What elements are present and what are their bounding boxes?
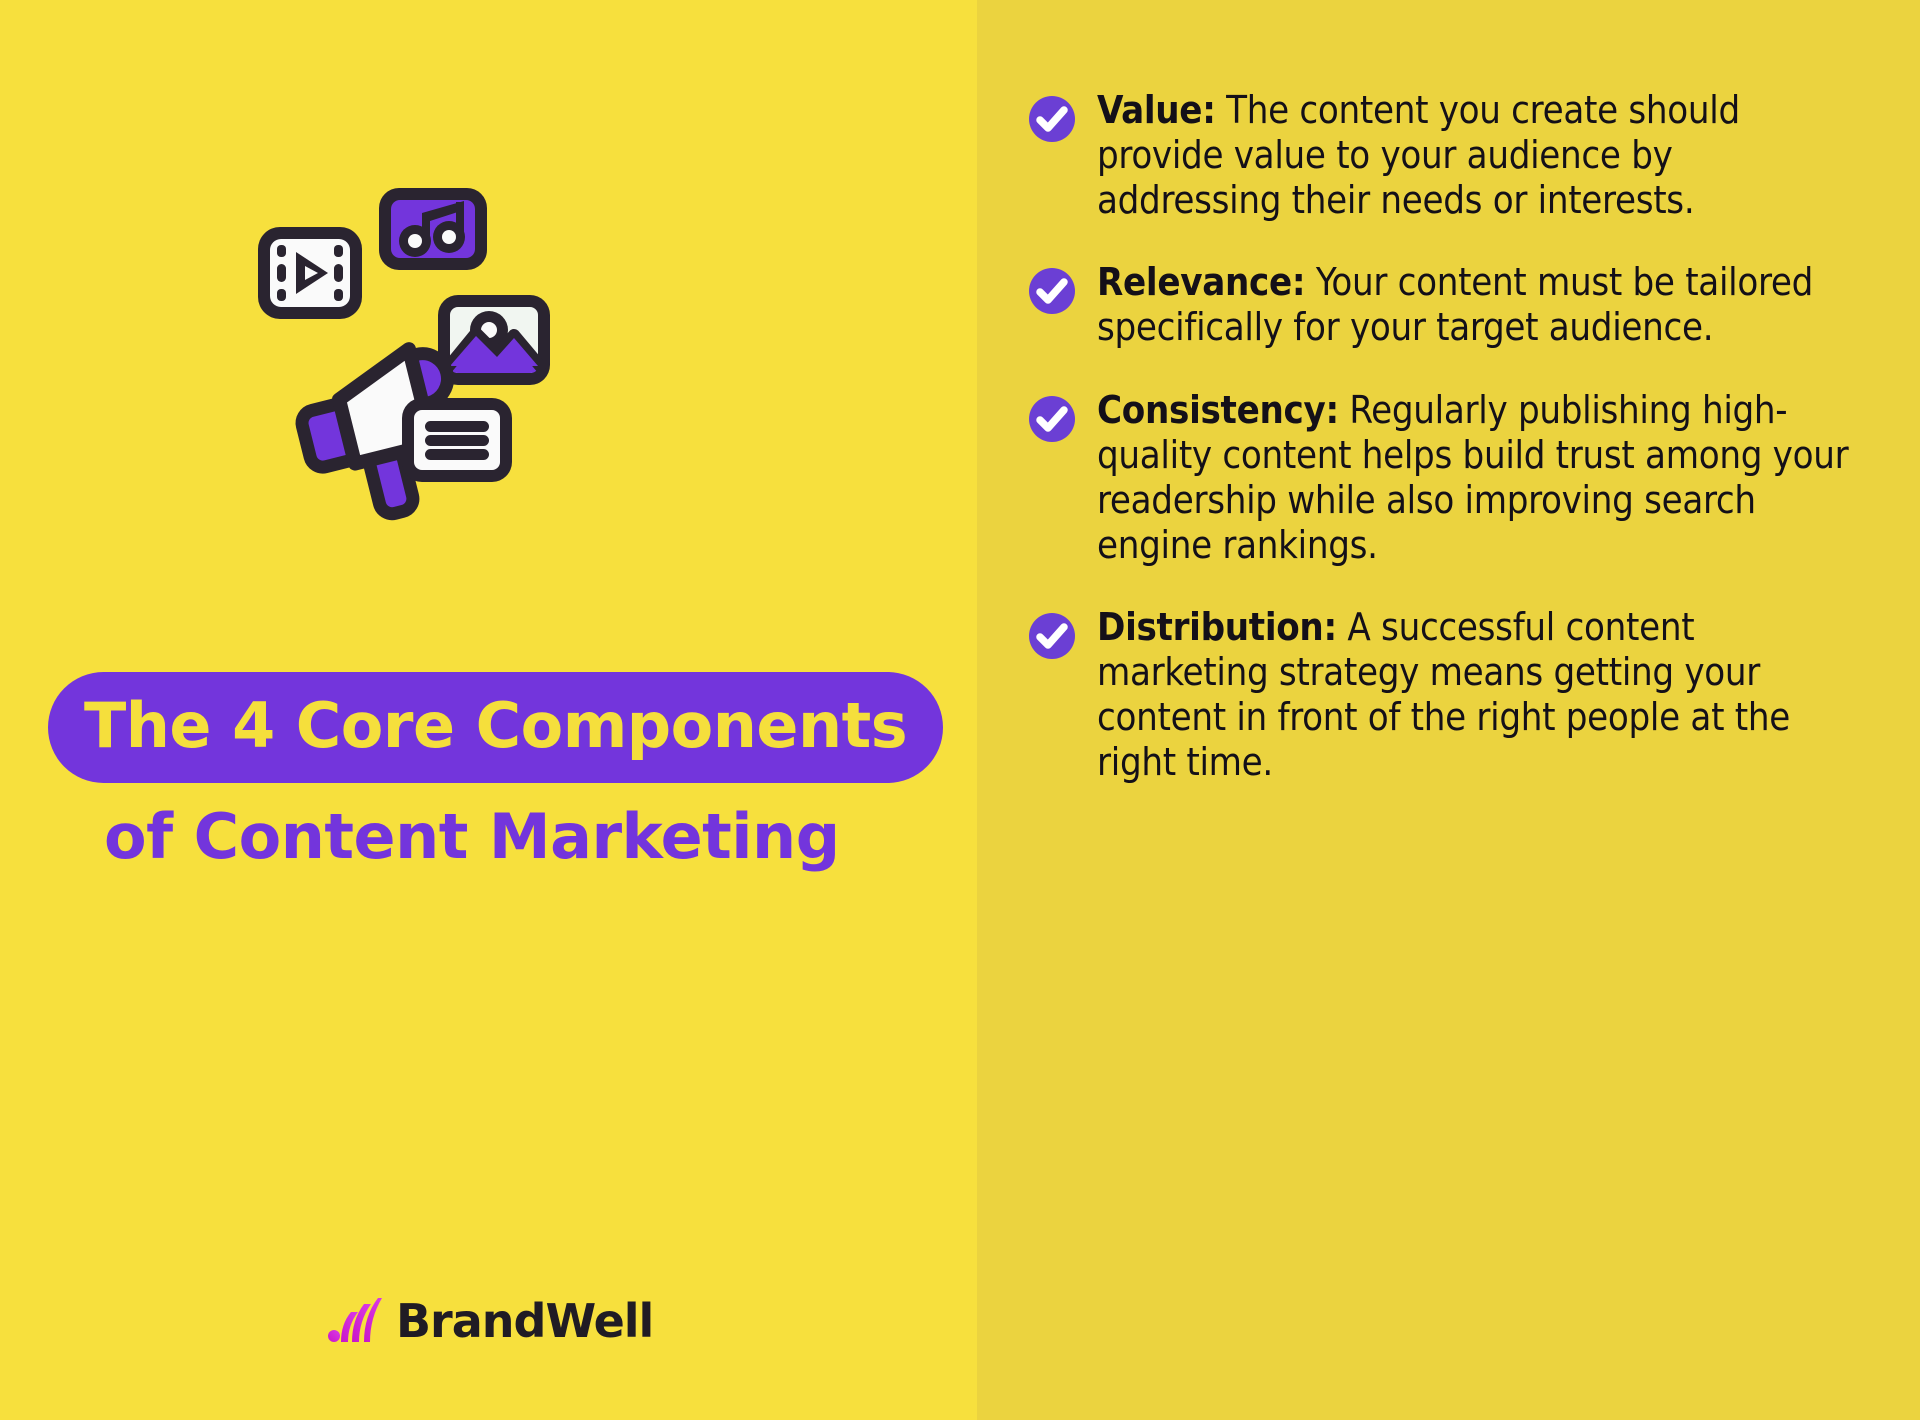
brandwell-swoosh-icon — [328, 1296, 382, 1346]
check-circle-icon — [1029, 613, 1075, 659]
infographic-poster: The 4 Core Components of Content Marketi… — [0, 0, 1920, 1420]
music-icon — [379, 188, 487, 270]
list-item-text: Consistency: Regularly publishing high-q… — [1097, 388, 1866, 567]
core-components-list: Value: The content you create should pro… — [1029, 88, 1866, 785]
brandwell-logo: BrandWell — [328, 1296, 653, 1346]
list-item-text: Relevance: Your content must be tailored… — [1097, 260, 1866, 350]
check-circle-icon — [1029, 96, 1075, 142]
list-item-term: Relevance: — [1097, 260, 1305, 304]
list-item-text: Value: The content you create should pro… — [1097, 88, 1866, 222]
article-icon — [402, 398, 512, 482]
title-line-one: The 4 Core Components — [84, 694, 907, 757]
list-item: Consistency: Regularly publishing high-q… — [1029, 388, 1866, 567]
list-item: Relevance: Your content must be tailored… — [1029, 260, 1866, 350]
left-panel: The 4 Core Components of Content Marketi… — [0, 0, 977, 1420]
check-circle-icon — [1029, 396, 1075, 442]
title-pill: The 4 Core Components — [48, 672, 943, 783]
title-line-two: of Content Marketing — [104, 805, 948, 868]
list-item-term: Consistency: — [1097, 388, 1339, 432]
content-icon-cluster — [250, 180, 680, 600]
list-item-text: Distribution: A successful content marke… — [1097, 605, 1866, 784]
list-item: Distribution: A successful content marke… — [1029, 605, 1866, 784]
title-block: The 4 Core Components of Content Marketi… — [48, 672, 948, 868]
list-item-term: Value: — [1097, 88, 1216, 132]
brandwell-logo-text: BrandWell — [396, 1298, 653, 1344]
list-item: Value: The content you create should pro… — [1029, 88, 1866, 222]
right-panel: Value: The content you create should pro… — [977, 0, 1920, 1420]
video-icon — [258, 227, 362, 319]
image-icon — [438, 295, 550, 385]
list-item-term: Distribution: — [1097, 605, 1337, 649]
check-circle-icon — [1029, 268, 1075, 314]
